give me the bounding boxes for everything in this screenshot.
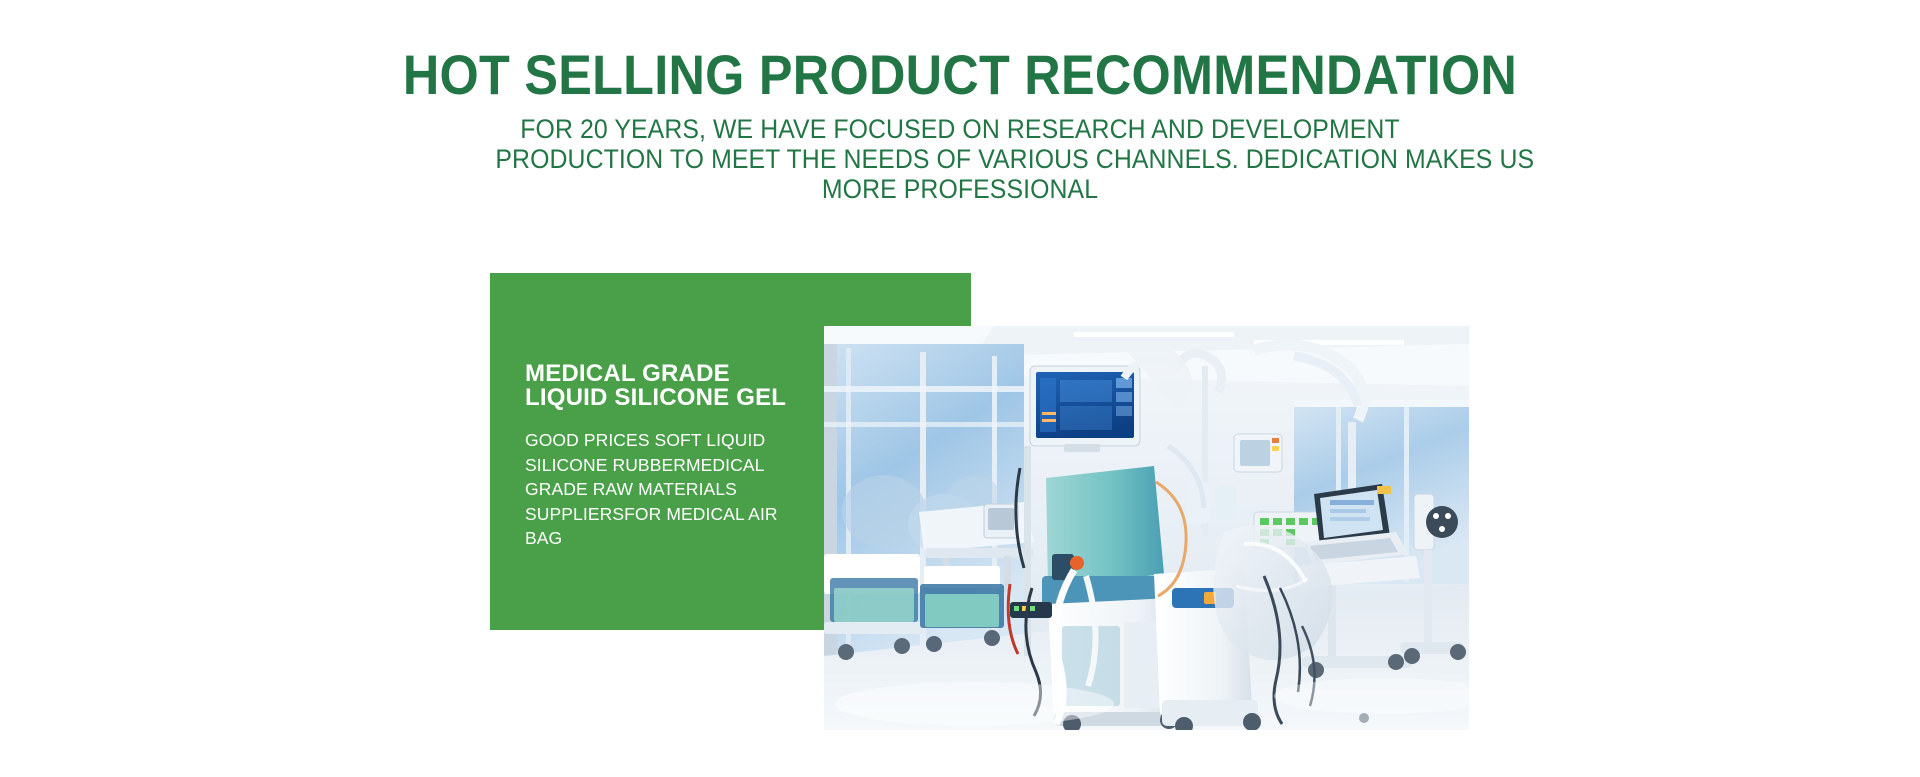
product-photo[interactable]: [824, 326, 1469, 730]
page-root: HOT SELLING PRODUCT RECOMMENDATION FOR 2…: [0, 0, 1920, 777]
product-card-description: GOOD PRICES SOFT LIQUID SILICONE RUBBERM…: [525, 410, 800, 551]
product-card-title-line-2: LIQUID SILICONE GEL: [525, 386, 800, 410]
product-card-title-line-1: MEDICAL GRADE: [525, 362, 800, 386]
feature-section: MEDICAL GRADE LIQUID SILICONE GEL GOOD P…: [0, 0, 1920, 777]
product-card-body: MEDICAL GRADE LIQUID SILICONE GEL GOOD P…: [525, 362, 800, 551]
hospital-icu-photo-illustration: [824, 326, 1469, 730]
product-card-title: MEDICAL GRADE LIQUID SILICONE GEL: [525, 362, 800, 410]
